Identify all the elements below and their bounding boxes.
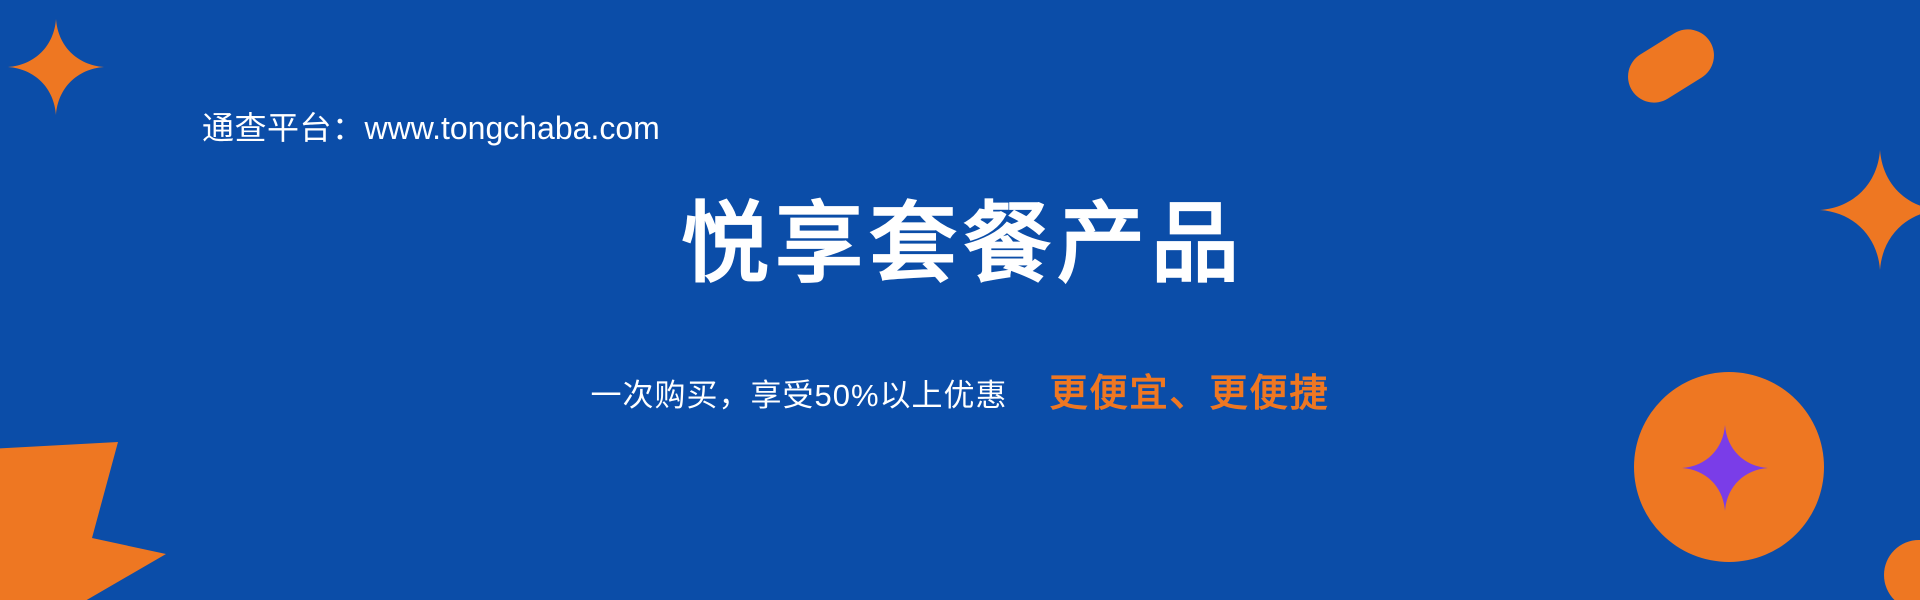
subtitle-plain: 一次购买，享受50%以上优惠 — [590, 370, 1007, 415]
platform-url[interactable]: www.tongchaba.com — [365, 110, 660, 146]
subtitle-row: 一次购买，享受50%以上优惠 更便宜、更便捷 — [0, 362, 1920, 417]
banner-text-layer: 通查平台：www.tongchaba.com 悦享套餐产品 一次购买，享受50%… — [0, 0, 1920, 600]
platform-label: 通查平台： — [202, 110, 365, 146]
page-title: 悦享套餐产品 — [0, 196, 1920, 293]
platform-line: 通查平台：www.tongchaba.com — [202, 108, 660, 148]
subtitle-highlight: 更便宜、更便捷 — [1050, 362, 1330, 417]
promo-banner: 通查平台：www.tongchaba.com 悦享套餐产品 一次购买，享受50%… — [0, 0, 1920, 600]
